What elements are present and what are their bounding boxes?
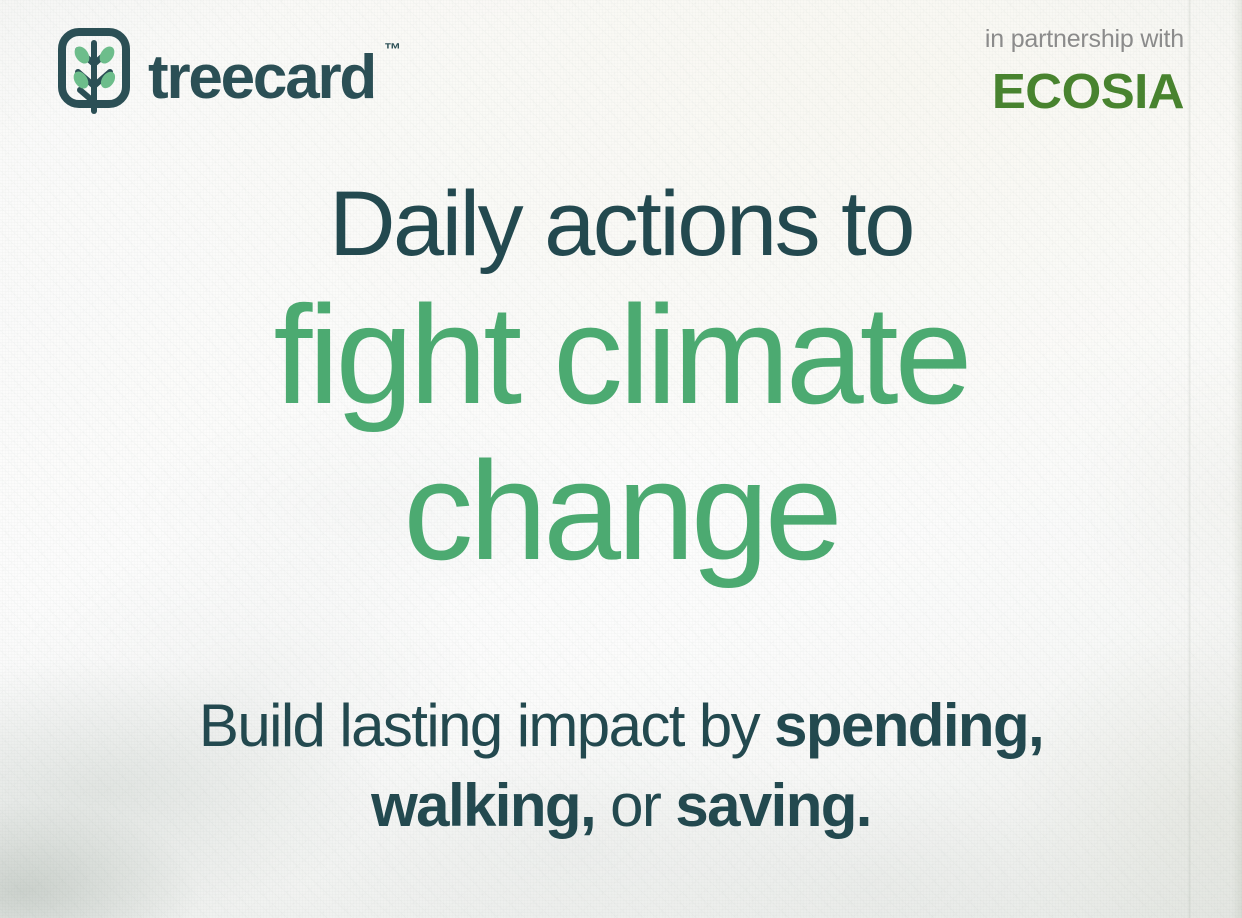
- headline-line-1: Daily actions to: [0, 176, 1242, 273]
- headline-block: Daily actions to fight climate change: [0, 176, 1242, 590]
- brand-wordmark: treecard ™: [148, 37, 375, 109]
- subtitle-row-2-emphasis-walking: walking,: [371, 772, 595, 839]
- subtitle-row-2: walking, or saving.: [0, 766, 1242, 846]
- partnership-block: in partnership with ECOSIA: [985, 26, 1184, 117]
- subtitle-row-2-emphasis-saving: saving.: [675, 772, 871, 839]
- poster-canvas: treecard ™ in partnership with ECOSIA Da…: [0, 0, 1242, 918]
- treecard-leaf-icon: [58, 28, 130, 118]
- trademark-symbol: ™: [384, 41, 401, 58]
- headline-accent-line-2: change: [0, 433, 1242, 590]
- subtitle-row-1: Build lasting impact by spending,: [0, 686, 1242, 766]
- poster-content: treecard ™ in partnership with ECOSIA Da…: [0, 0, 1242, 918]
- brand-lockup: treecard ™: [58, 28, 375, 118]
- headline-accent-line-1: fight climate: [0, 277, 1242, 434]
- ecosia-wordmark: ECOSIA: [977, 68, 1184, 117]
- subtitle-row-1-emphasis: spending,: [774, 692, 1043, 759]
- partnership-label: in partnership with: [985, 26, 1184, 54]
- subtitle-row-1-plain: Build lasting impact by: [199, 692, 774, 759]
- subtitle-row-2-plain: or: [595, 772, 675, 839]
- subtitle-block: Build lasting impact by spending, walkin…: [0, 686, 1242, 846]
- brand-wordmark-text: treecard: [148, 43, 375, 112]
- headline-accent: fight climate change: [0, 277, 1242, 591]
